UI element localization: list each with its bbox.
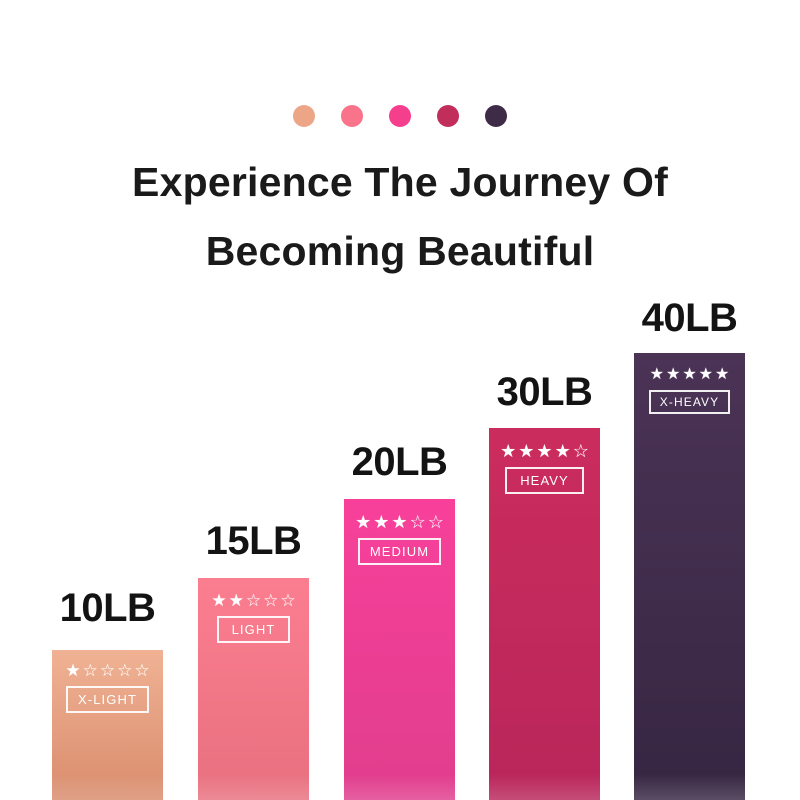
- bar-x-light-star-rating: ★☆☆☆☆: [65, 662, 149, 679]
- star-filled-icon: ★: [391, 513, 407, 531]
- bar-x-heavy-group[interactable]: 40LB★★★★★X-HEAVY: [634, 298, 745, 800]
- bar-heavy-level-badge: HEAVY: [505, 467, 584, 494]
- bar-heavy-star-rating: ★★★★☆: [500, 442, 589, 460]
- star-filled-icon: ★: [699, 367, 713, 383]
- star-empty-icon: ☆: [134, 662, 149, 679]
- star-filled-icon: ★: [65, 662, 80, 679]
- star-empty-icon: ☆: [573, 442, 589, 460]
- bar-light-star-rating: ★★☆☆☆: [211, 592, 295, 609]
- star-filled-icon: ★: [229, 592, 244, 609]
- star-filled-icon: ★: [500, 442, 516, 460]
- bar-medium-value-label: 20LB: [352, 442, 448, 482]
- star-empty-icon: ☆: [83, 662, 98, 679]
- bar-light-bottom-fade: [198, 774, 309, 800]
- bar-medium-group[interactable]: 20LB★★★☆☆MEDIUM: [344, 442, 455, 800]
- bar-x-heavy-star-rating: ★★★★★: [650, 367, 730, 383]
- star-filled-icon: ★: [650, 367, 664, 383]
- star-empty-icon: ☆: [280, 592, 295, 609]
- star-empty-icon: ☆: [410, 513, 426, 531]
- bar-heavy-content: ★★★★☆HEAVY: [489, 442, 600, 494]
- bar-light-value-label: 15LB: [206, 521, 302, 561]
- bar-x-light-value-label: 10LB: [60, 588, 156, 628]
- bar-light-level-badge: LIGHT: [217, 616, 291, 643]
- bar-medium-level-badge: MEDIUM: [358, 538, 441, 565]
- bar-x-heavy-bottom-fade: [634, 774, 745, 800]
- bar-medium-star-rating: ★★★☆☆: [355, 513, 444, 531]
- bar-heavy[interactable]: ★★★★☆HEAVY: [489, 428, 600, 800]
- star-filled-icon: ★: [536, 442, 552, 460]
- star-filled-icon: ★: [682, 367, 696, 383]
- star-filled-icon: ★: [355, 513, 371, 531]
- bar-light-content: ★★☆☆☆LIGHT: [198, 592, 309, 643]
- star-filled-icon: ★: [666, 367, 680, 383]
- star-empty-icon: ☆: [117, 662, 132, 679]
- bar-medium-content: ★★★☆☆MEDIUM: [344, 513, 455, 565]
- star-empty-icon: ☆: [428, 513, 444, 531]
- bar-x-light-bottom-fade: [52, 774, 163, 800]
- star-empty-icon: ☆: [246, 592, 261, 609]
- star-empty-icon: ☆: [263, 592, 278, 609]
- bar-heavy-bottom-fade: [489, 774, 600, 800]
- bar-medium[interactable]: ★★★☆☆MEDIUM: [344, 499, 455, 800]
- star-empty-icon: ☆: [100, 662, 115, 679]
- bar-light[interactable]: ★★☆☆☆LIGHT: [198, 578, 309, 800]
- product-infographic: Experience The Journey Of Becoming Beaut…: [0, 0, 800, 800]
- star-filled-icon: ★: [715, 367, 729, 383]
- star-filled-icon: ★: [518, 442, 534, 460]
- bar-heavy-value-label: 30LB: [497, 372, 593, 412]
- bar-x-heavy[interactable]: ★★★★★X-HEAVY: [634, 353, 745, 800]
- bar-x-light-group[interactable]: 10LB★☆☆☆☆X-LIGHT: [52, 588, 163, 800]
- star-filled-icon: ★: [373, 513, 389, 531]
- bar-x-heavy-content: ★★★★★X-HEAVY: [634, 367, 745, 414]
- bar-heavy-group[interactable]: 30LB★★★★☆HEAVY: [489, 372, 600, 800]
- bar-x-heavy-value-label: 40LB: [642, 298, 738, 338]
- star-filled-icon: ★: [555, 442, 571, 460]
- bar-x-light-level-badge: X-LIGHT: [66, 686, 149, 713]
- bar-light-group[interactable]: 15LB★★☆☆☆LIGHT: [198, 521, 309, 800]
- bar-x-light[interactable]: ★☆☆☆☆X-LIGHT: [52, 650, 163, 800]
- star-filled-icon: ★: [211, 592, 226, 609]
- bar-medium-bottom-fade: [344, 774, 455, 800]
- resistance-band-bar-chart: 10LB★☆☆☆☆X-LIGHT15LB★★☆☆☆LIGHT20LB★★★☆☆M…: [0, 0, 800, 800]
- bar-x-heavy-level-badge: X-HEAVY: [649, 390, 731, 414]
- bar-x-light-content: ★☆☆☆☆X-LIGHT: [52, 662, 163, 713]
